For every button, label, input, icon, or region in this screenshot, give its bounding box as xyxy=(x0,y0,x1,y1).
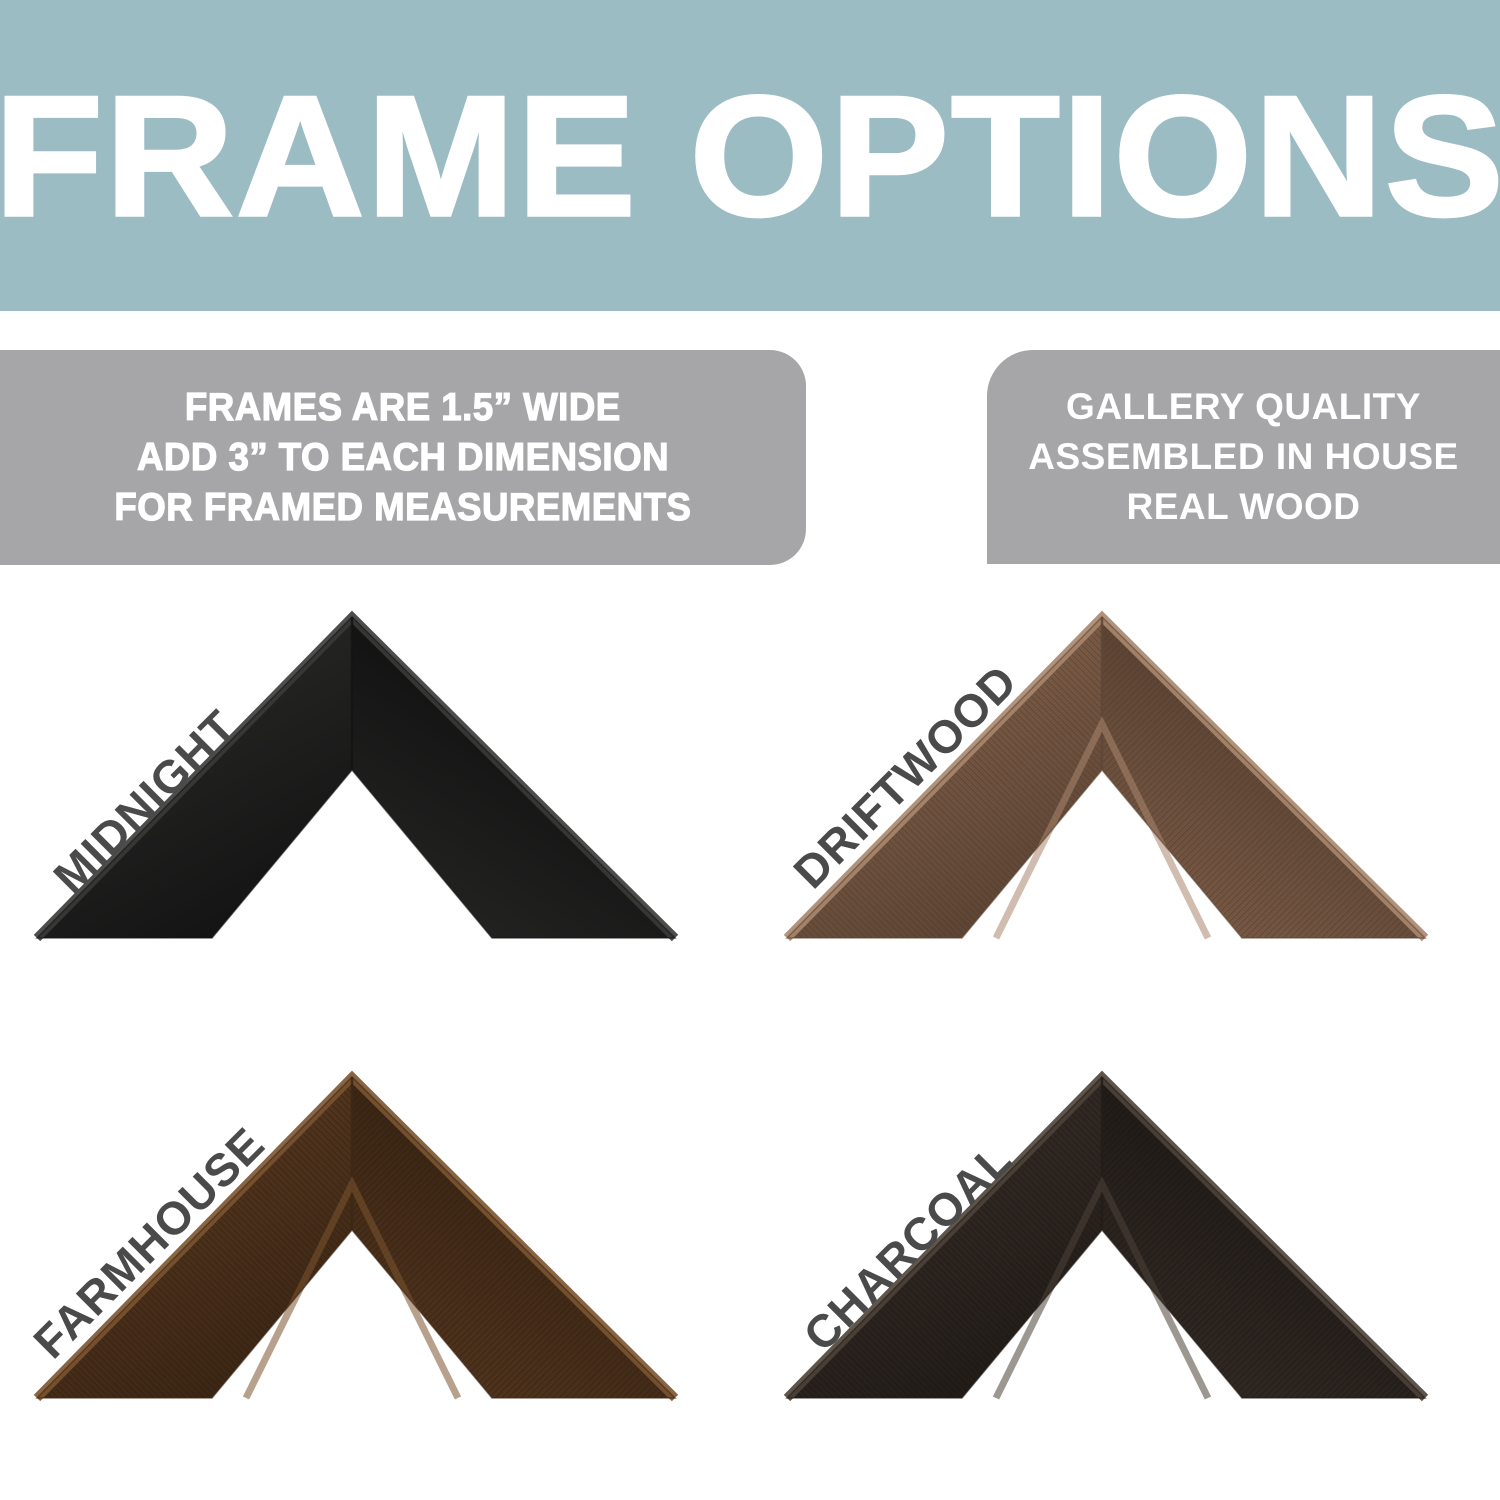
header-banner: FRAME OPTIONS xyxy=(0,0,1500,311)
info-right-line-2: ASSEMBLED IN HOUSE xyxy=(1028,432,1458,482)
frame-swatch-midnight[interactable]: MIDNIGHT xyxy=(0,585,750,1040)
frame-swatch-farmhouse[interactable]: FARMHOUSE xyxy=(0,1045,750,1500)
frame-options-page: FRAME OPTIONS FRAMES ARE 1.5” WIDE ADD 3… xyxy=(0,0,1500,1500)
frame-swatch-charcoal[interactable]: CHARCOAL xyxy=(750,1045,1500,1500)
info-right-line-1: GALLERY QUALITY xyxy=(1066,382,1421,432)
info-right-line-3: REAL WOOD xyxy=(1126,482,1360,532)
info-left-line-3: FOR FRAMED MEASUREMENTS xyxy=(114,483,691,533)
frame-swatch-driftwood[interactable]: DRIFTWOOD xyxy=(750,585,1500,1040)
info-left-line-1: FRAMES ARE 1.5” WIDE xyxy=(185,383,621,433)
info-left-line-2: ADD 3” TO EACH DIMENSION xyxy=(137,433,669,483)
page-title: FRAME OPTIONS xyxy=(0,70,1500,241)
frame-swatch-grid: MIDNIGHT DRIFTWOOD FARMHOUSE CHARCOAL xyxy=(0,585,1500,1500)
info-box-quality: GALLERY QUALITY ASSEMBLED IN HOUSE REAL … xyxy=(987,350,1500,564)
info-box-measurements: FRAMES ARE 1.5” WIDE ADD 3” TO EACH DIME… xyxy=(0,350,806,565)
